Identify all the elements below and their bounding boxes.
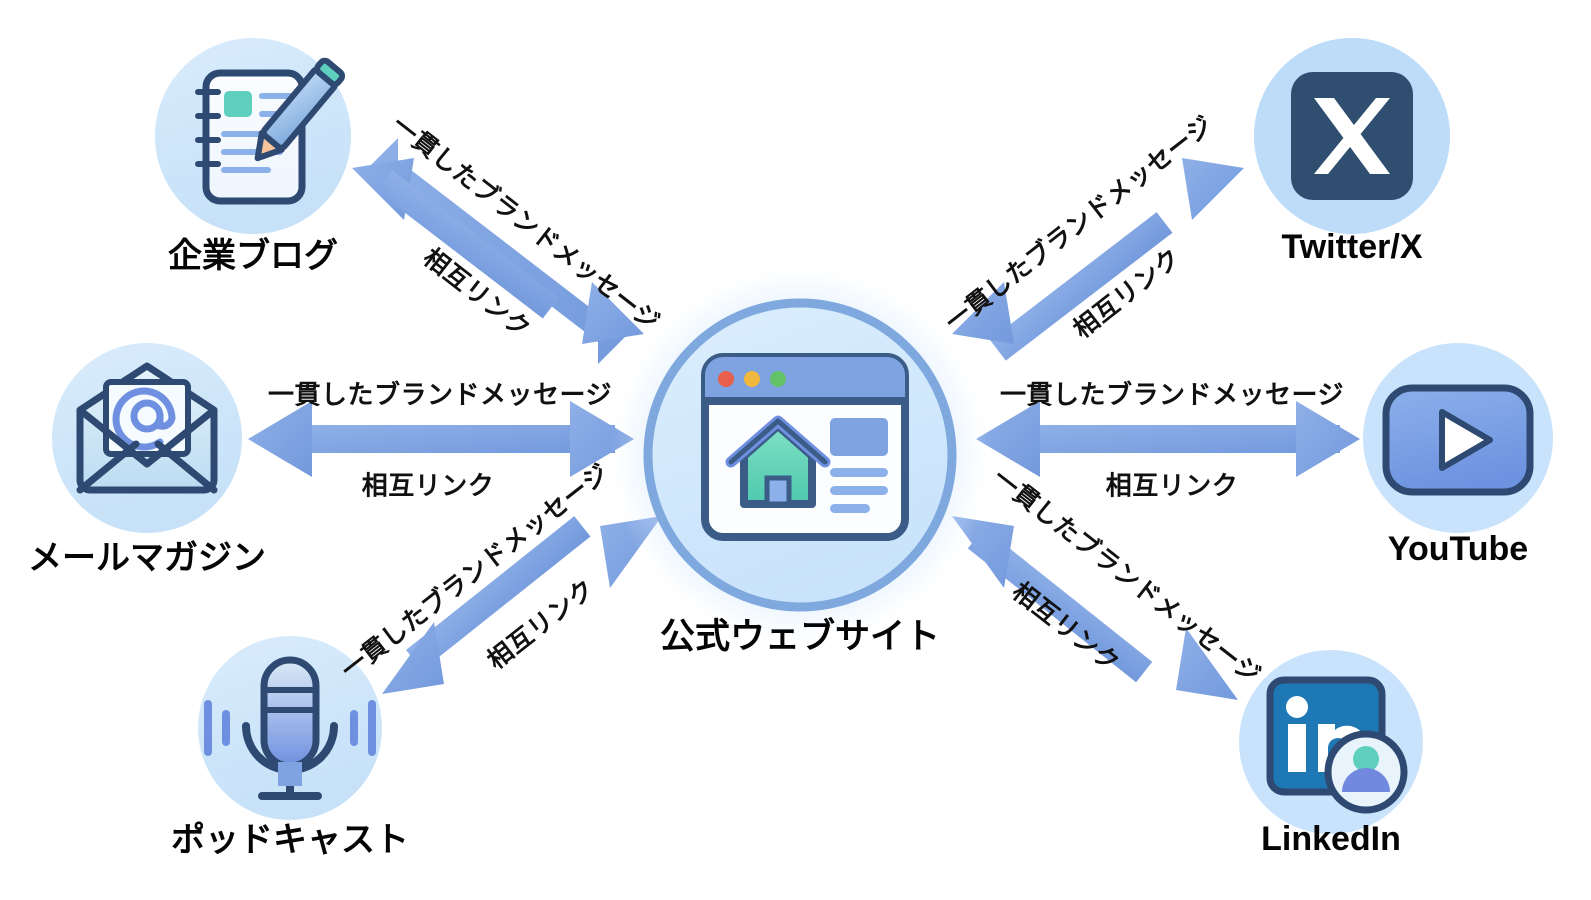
hub-node[interactable] bbox=[610, 265, 990, 645]
youtube-play-icon bbox=[1386, 388, 1530, 492]
node-blog[interactable] bbox=[155, 38, 351, 234]
edge-label-newsletter-message: 一貫したブランドメッセージ bbox=[268, 375, 612, 412]
node-label-podcast: ポッドキャスト bbox=[171, 812, 409, 861]
diagram-canvas: 企業ブログ Twitter/X メールマガジン YouTube ポッドキャスト … bbox=[0, 0, 1591, 900]
edge-label-youtube-message: 一貫したブランドメッセージ bbox=[1000, 375, 1344, 412]
node-label-blog: 企業ブログ bbox=[168, 228, 338, 277]
linkedin-person-icon bbox=[1270, 680, 1404, 810]
node-twitter[interactable] bbox=[1254, 38, 1450, 234]
hub-label: 公式ウェブサイト bbox=[660, 608, 940, 659]
node-label-youtube: YouTube bbox=[1388, 530, 1528, 569]
website-browser-icon bbox=[705, 357, 905, 537]
edge-label-newsletter-link: 相互リンク bbox=[362, 466, 495, 503]
node-newsletter[interactable] bbox=[52, 343, 242, 533]
node-linkedin[interactable] bbox=[1239, 650, 1423, 834]
node-label-newsletter: メールマガジン bbox=[28, 530, 266, 579]
node-label-twitter: Twitter/X bbox=[1281, 228, 1422, 267]
twitter-x-icon bbox=[1291, 72, 1413, 200]
node-label-linkedin: LinkedIn bbox=[1261, 820, 1401, 859]
node-layer bbox=[0, 0, 1591, 900]
edge-label-youtube-link: 相互リンク bbox=[1106, 466, 1239, 503]
node-youtube[interactable] bbox=[1363, 343, 1553, 533]
